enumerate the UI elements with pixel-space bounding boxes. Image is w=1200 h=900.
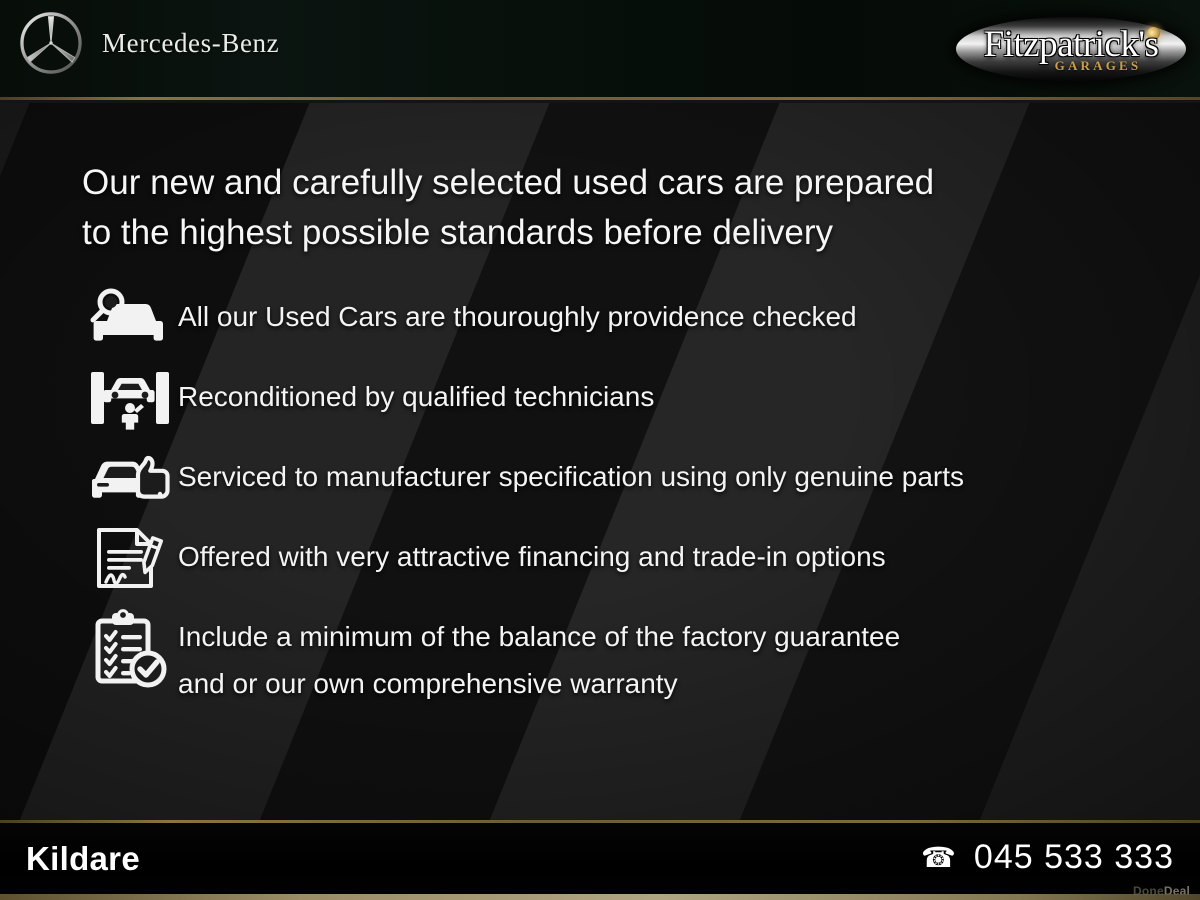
- car-on-lift-technician-icon: [82, 365, 178, 431]
- mercedes-star-icon: [18, 10, 84, 76]
- telephone-icon: ☎: [921, 844, 956, 872]
- phone-block[interactable]: ☎ 045 533 333: [921, 838, 1174, 877]
- headline-line-2: to the highest possible standards before…: [82, 208, 1102, 258]
- list-item-text: Offered with very attractive financing a…: [178, 525, 886, 580]
- watermark-part-1: Done: [1133, 884, 1164, 898]
- header-bar: Mercedes-Benz Fitzpatrick's GARAGES: [0, 0, 1200, 100]
- donedeal-watermark: DoneDeal: [1133, 884, 1190, 898]
- main-content: Our new and carefully selected used cars…: [0, 103, 1200, 820]
- list-item: Serviced to manufacturer specification u…: [82, 445, 1142, 511]
- list-item-line-1: Serviced to manufacturer specification u…: [178, 461, 964, 492]
- car-thumbs-up-icon: [82, 445, 178, 511]
- list-item-line-1: All our Used Cars are thouroughly provid…: [178, 301, 857, 332]
- clipboard-checklist-icon: [82, 605, 178, 705]
- list-item: All our Used Cars are thouroughly provid…: [82, 285, 1142, 351]
- dealer-subtitle: GARAGES: [1055, 58, 1142, 74]
- brand-lockup: Mercedes-Benz: [18, 10, 279, 76]
- list-item: Reconditioned by qualified technicians: [82, 365, 1142, 431]
- list-item: Offered with very attractive financing a…: [82, 525, 1142, 591]
- list-item-line-1: Include a minimum of the balance of the …: [178, 621, 900, 652]
- contract-pen-icon: [82, 525, 178, 591]
- fitzpatricks-garages-logo[interactable]: Fitzpatrick's GARAGES: [956, 7, 1186, 93]
- list-item-text: Serviced to manufacturer specification u…: [178, 445, 964, 500]
- list-item-line-1: Offered with very attractive financing a…: [178, 541, 886, 572]
- list-item-text: Include a minimum of the balance of the …: [178, 605, 900, 707]
- list-item: Include a minimum of the balance of the …: [82, 605, 1142, 707]
- list-item-line-1: Reconditioned by qualified technicians: [178, 381, 654, 412]
- headline-line-1: Our new and carefully selected used cars…: [82, 163, 934, 202]
- list-item-line-2: and or our own comprehensive warranty: [178, 660, 900, 707]
- phone-number[interactable]: 045 533 333: [974, 838, 1174, 877]
- car-magnifier-icon: [82, 285, 178, 351]
- list-item-text: Reconditioned by qualified technicians: [178, 365, 654, 420]
- location-label: Kildare: [26, 840, 140, 878]
- advertisement-banner: Mercedes-Benz Fitzpatrick's GARAGES Our …: [0, 0, 1200, 900]
- benefits-list: All our Used Cars are thouroughly provid…: [82, 285, 1142, 721]
- footer-bar: Kildare ☎ 045 533 333 DoneDeal: [0, 820, 1200, 900]
- watermark-part-2: Deal: [1164, 884, 1190, 898]
- headline: Our new and carefully selected used cars…: [82, 158, 1102, 258]
- brand-name: Mercedes-Benz: [102, 28, 279, 59]
- list-item-text: All our Used Cars are thouroughly provid…: [178, 285, 857, 340]
